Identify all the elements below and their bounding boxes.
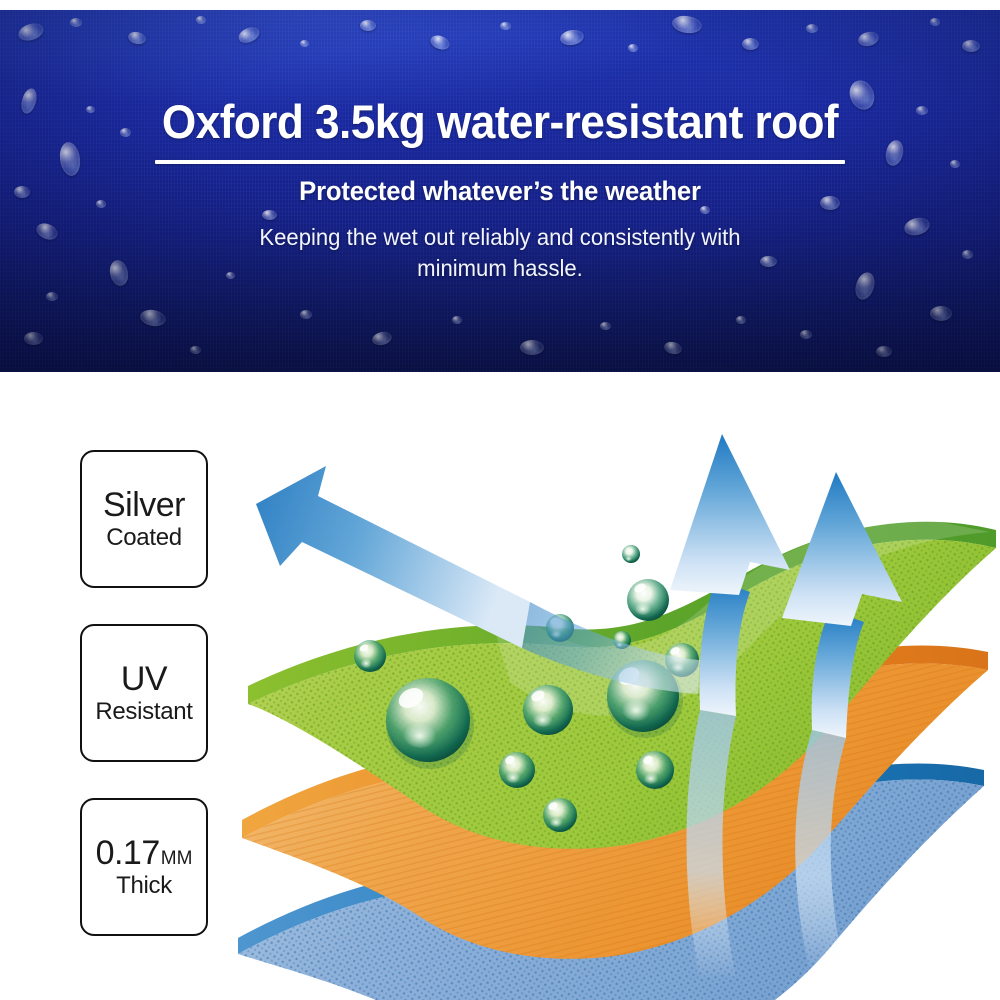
- badge-silver-coated-main: Silver: [103, 488, 185, 523]
- badge-uv-resistant-value: UV: [121, 662, 167, 697]
- badge-thickness-value: 0.17: [96, 836, 160, 871]
- badge-thickness: 0.17MM Thick: [80, 798, 208, 936]
- badge-thickness-unit: MM: [161, 849, 193, 868]
- hero-title: Oxford 3.5kg water-resistant roof: [30, 94, 970, 149]
- droplet-medium-5: [543, 798, 577, 832]
- fabric-layers-illustration: [230, 420, 1000, 1000]
- droplet-medium-1: [523, 685, 573, 735]
- droplet-small-1: [354, 640, 386, 672]
- droplet-small-3: [622, 545, 640, 563]
- hero-description-line-1: Keeping the wet out reliably and consist…: [20, 222, 980, 253]
- droplet-medium-2: [627, 579, 669, 621]
- badge-uv-resistant-main: UV: [121, 662, 167, 697]
- badge-silver-coated-value: Silver: [103, 488, 185, 523]
- droplet-medium-3: [499, 752, 535, 788]
- hero-subtitle: Protected whatever’s the weather: [25, 176, 975, 207]
- hero-description: Keeping the wet out reliably and consist…: [20, 222, 980, 284]
- hero-description-line-2: minimum hassle.: [20, 253, 980, 284]
- badge-uv-resistant: UV Resistant: [80, 624, 208, 762]
- hero-banner: Oxford 3.5kg water-resistant roof Protec…: [0, 10, 1000, 372]
- badge-thickness-sub: Thick: [116, 873, 172, 898]
- badge-silver-coated: Silver Coated: [80, 450, 208, 588]
- badge-uv-resistant-sub: Resistant: [95, 699, 192, 724]
- badge-silver-coated-sub: Coated: [106, 525, 182, 550]
- product-feature-page: Oxford 3.5kg water-resistant roof Protec…: [0, 0, 1000, 1000]
- badge-thickness-main: 0.17MM: [96, 836, 193, 871]
- droplet-medium-4: [636, 751, 674, 789]
- hero-content: Oxford 3.5kg water-resistant roof Protec…: [0, 10, 1000, 372]
- feature-badge-list: Silver Coated UV Resistant 0.17MM Thick: [80, 450, 206, 972]
- hero-divider: [155, 160, 845, 164]
